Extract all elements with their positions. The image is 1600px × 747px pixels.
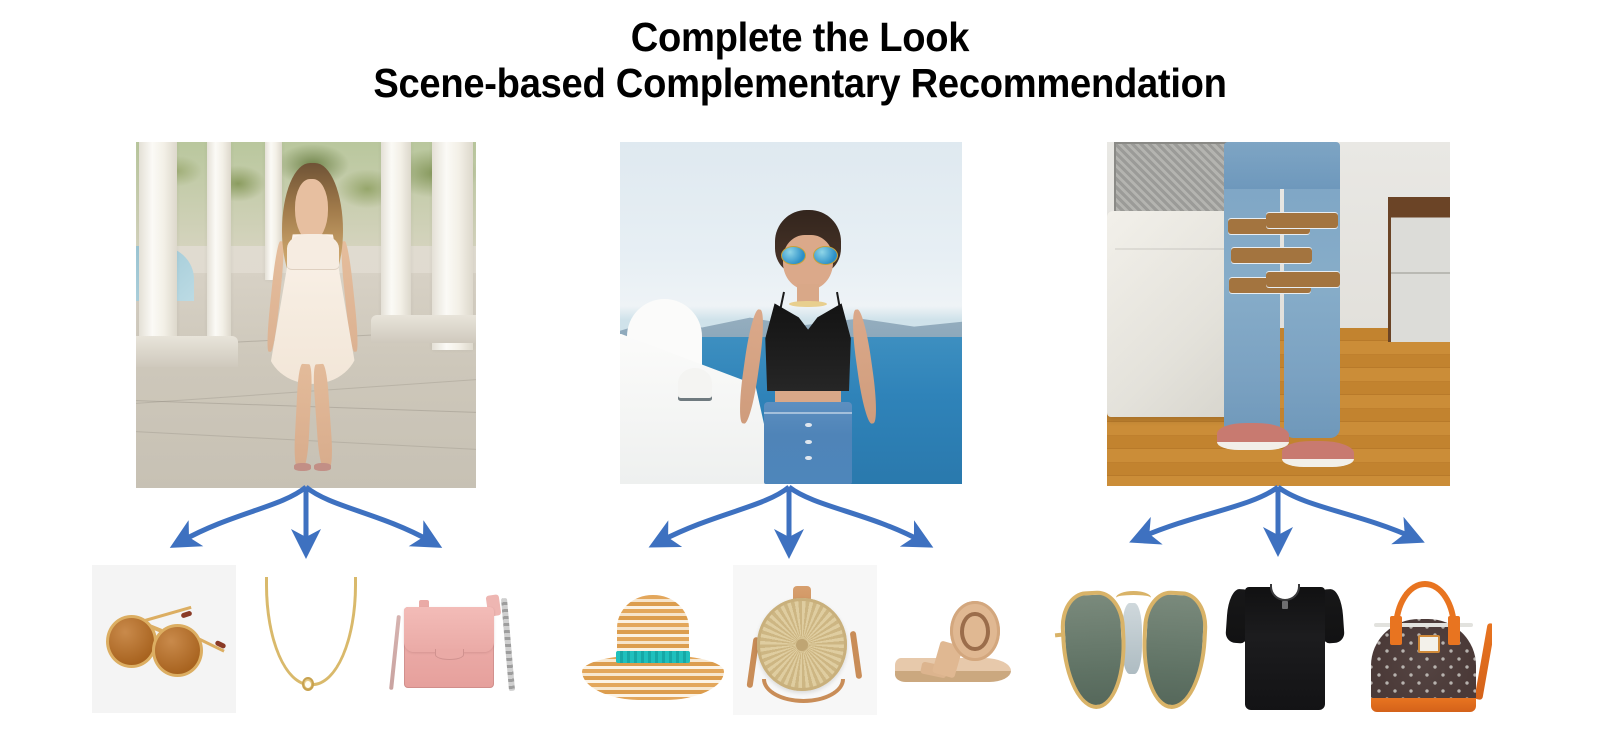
necklace-icon bbox=[248, 565, 368, 713]
scene-2-artwork bbox=[620, 142, 962, 484]
fan-arrows-3 bbox=[1052, 485, 1502, 565]
scene-image-santorini-crop-top[interactable]: Woman in round mirrored sunglasses, blac… bbox=[620, 142, 962, 484]
look-column-1: Young blonde woman in a cream babydoll d… bbox=[92, 0, 522, 747]
product-straw-sun-hat[interactable]: Wide-brim straw sun hat with tan and whi… bbox=[579, 565, 727, 715]
product-aviator-sunglasses[interactable]: Gold-framed aviator sunglasses with dark… bbox=[1052, 565, 1212, 725]
product-row-3: Gold-framed aviator sunglasses with dark… bbox=[1052, 565, 1502, 725]
product-tan-medallion-sandal[interactable]: Flat tan leather thong sandal with a cut… bbox=[883, 565, 1029, 715]
aviator-sunglasses-icon bbox=[1052, 565, 1212, 725]
product-row-1: Round amber-tinted sunglasses with gold … bbox=[92, 565, 522, 715]
product-round-sunglasses[interactable]: Round amber-tinted sunglasses with gold … bbox=[92, 565, 236, 713]
look-column-2: Woman in round mirrored sunglasses, blac… bbox=[575, 0, 1025, 747]
product-round-rattan-bag[interactable]: Round woven rattan crossbody bag with ta… bbox=[733, 565, 877, 715]
slide-canvas: Complete the Look Scene-based Complement… bbox=[0, 0, 1600, 747]
scene-1-artwork bbox=[136, 142, 476, 488]
sun-hat-icon bbox=[579, 565, 727, 715]
fan-arrows-2 bbox=[575, 485, 1025, 565]
scene-3-artwork bbox=[1107, 142, 1450, 486]
sandal-icon bbox=[883, 565, 1029, 715]
satchel-icon bbox=[1358, 565, 1492, 725]
pink-bag-icon bbox=[380, 565, 524, 715]
product-row-2: Wide-brim straw sun hat with tan and whi… bbox=[575, 565, 1029, 715]
fan-arrows-1 bbox=[92, 485, 522, 565]
tshirt-icon bbox=[1222, 565, 1348, 723]
product-black-tshirt[interactable]: Plain black short-sleeve scoop-neck t-sh… bbox=[1222, 565, 1348, 723]
scene-image-white-dress[interactable]: Young blonde woman in a cream babydoll d… bbox=[136, 142, 476, 488]
look-column-3: Legs in light-wash ripped boyfriend jean… bbox=[1052, 0, 1502, 747]
product-monogram-dome-satchel[interactable]: Dark brown monogram dome satchel with or… bbox=[1358, 565, 1492, 725]
round-sunglasses-icon bbox=[92, 565, 236, 713]
product-pink-crossbody-bag[interactable]: Pink leather flap crossbody bag with sil… bbox=[380, 565, 524, 715]
scene-image-ripped-jeans[interactable]: Legs in light-wash ripped boyfriend jean… bbox=[1107, 142, 1450, 486]
rattan-bag-icon bbox=[733, 565, 877, 715]
product-gold-pendant-necklace[interactable]: Thin gold chain necklace with a small ro… bbox=[248, 565, 368, 713]
